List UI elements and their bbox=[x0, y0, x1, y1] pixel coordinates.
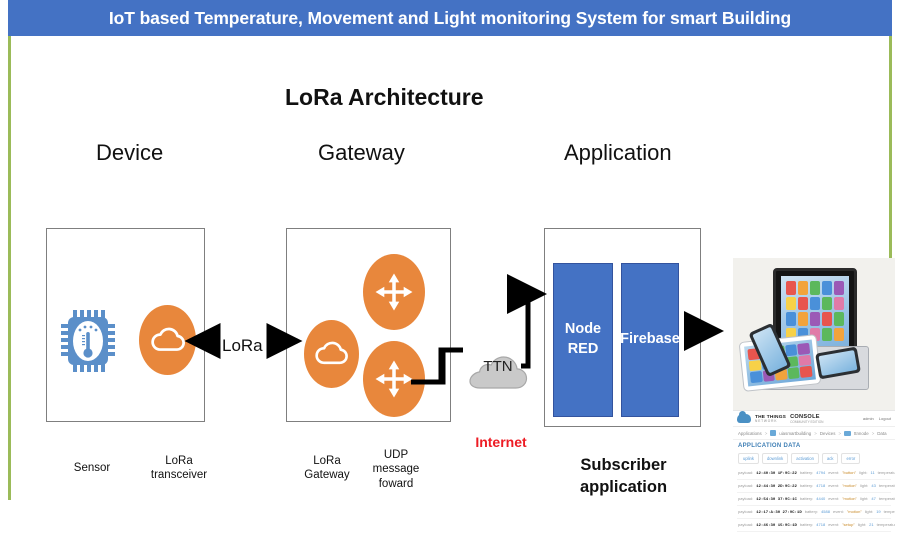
row-light-value: 19 bbox=[876, 509, 880, 514]
row-event-key: event: bbox=[828, 470, 839, 475]
row-event-value: "motion" bbox=[842, 496, 857, 501]
console-user-link[interactable]: admin bbox=[863, 416, 874, 421]
lora-gateway-label-line1: LoRa bbox=[291, 454, 363, 468]
row-payload-value: 12:44:30 2D:9C:22 bbox=[756, 485, 797, 489]
ttn-label: TTN bbox=[466, 358, 530, 375]
row-temp-key: temperature: bbox=[879, 483, 895, 488]
breadcrumb-devices[interactable]: Devices bbox=[820, 431, 836, 436]
row-battery-value: 4718 bbox=[816, 522, 825, 527]
tab-activation[interactable]: activation bbox=[791, 453, 819, 464]
breadcrumb-app-name[interactable]: uiasmartbuilding bbox=[779, 431, 811, 436]
row-light-key: light: bbox=[860, 496, 868, 501]
title-banner: IoT based Temperature, Movement and Ligh… bbox=[8, 0, 892, 36]
banner-title: IoT based Temperature, Movement and Ligh… bbox=[109, 8, 791, 29]
udp-forward-label-line1: UDP bbox=[363, 448, 429, 462]
temperature-sensor-chip-icon bbox=[57, 302, 119, 380]
node-red-box: Node RED bbox=[553, 263, 613, 417]
row-payload-value: 12:40:30 1F:9C:22 bbox=[756, 472, 797, 476]
row-battery-key: battery: bbox=[805, 509, 818, 514]
row-battery-value: 4718 bbox=[816, 483, 825, 488]
subscriber-caption-line1: Subscriber bbox=[541, 454, 706, 476]
udp-forward-label: UDP message foward bbox=[363, 448, 429, 491]
four-way-arrow-router-icon-2 bbox=[363, 341, 425, 417]
device-icon bbox=[844, 431, 851, 436]
row-payload-value: 12:54:30 37:9C:1C bbox=[756, 498, 797, 502]
gateway-heading: Gateway bbox=[318, 140, 405, 166]
ttn-logo-icon bbox=[737, 414, 751, 423]
console-filter-tabs: uplink downlink activation ack error bbox=[733, 453, 895, 467]
row-payload-key: payload: bbox=[738, 496, 753, 501]
ttn-brand: THE THINGS N E T W O R K bbox=[755, 414, 786, 424]
table-row[interactable]: payload: 12:46:30 15:9C:1D battery: 4718… bbox=[737, 519, 891, 532]
row-payload-value: 12:17:A:30 27:9C:1D bbox=[756, 511, 802, 515]
tab-uplink[interactable]: uplink bbox=[738, 453, 759, 464]
breadcrumb: Applications > uiasmartbuilding > Device… bbox=[733, 427, 895, 440]
lora-transceiver-cloud-icon bbox=[139, 305, 196, 375]
lora-gateway-label: LoRa Gateway bbox=[291, 454, 363, 483]
row-light-key: light: bbox=[865, 509, 873, 514]
row-battery-value: 4794 bbox=[816, 470, 825, 475]
console-logout-link[interactable]: Logout bbox=[879, 416, 891, 421]
console-header-right: admin Logout bbox=[863, 416, 891, 421]
row-payload-value: 12:46:30 15:9C:1D bbox=[756, 524, 797, 528]
row-battery-key: battery: bbox=[800, 470, 813, 475]
application-data-title: APPLICATION DATA bbox=[733, 440, 895, 453]
lora-gateway-cloud-icon bbox=[304, 320, 359, 388]
devices-photo bbox=[733, 258, 895, 410]
row-light-value: 21 bbox=[869, 522, 873, 527]
application-icon bbox=[770, 430, 776, 436]
device-heading: Device bbox=[96, 140, 163, 166]
breadcrumb-data[interactable]: Data bbox=[877, 431, 886, 436]
row-event-value: "button" bbox=[842, 470, 856, 475]
four-way-arrow-router-icon bbox=[363, 254, 425, 330]
row-battery-key: battery: bbox=[800, 522, 813, 527]
breadcrumb-applications[interactable]: Applications bbox=[738, 431, 762, 436]
internet-label: Internet bbox=[461, 434, 541, 450]
slide-body: LoRa Architecture Device Gateway Applica… bbox=[8, 36, 892, 500]
row-event-value: "motion" bbox=[847, 509, 862, 514]
slide-page: IoT based Temperature, Movement and Ligh… bbox=[0, 0, 900, 500]
subscriber-caption-line2: application bbox=[541, 476, 706, 498]
lora-transceiver-label: LoRa transceiver bbox=[141, 454, 217, 483]
row-temp-key: temperature: bbox=[879, 496, 895, 501]
console-word-sub: COMMUNITY EDITION bbox=[790, 420, 823, 424]
tab-downlink[interactable]: downlink bbox=[762, 453, 788, 464]
row-light-value: 43 bbox=[871, 483, 875, 488]
row-event-key: event: bbox=[828, 483, 839, 488]
row-payload-key: payload: bbox=[738, 509, 753, 514]
udp-forward-label-line3: foward bbox=[363, 477, 429, 491]
lora-gateway-label-line2: Gateway bbox=[291, 468, 363, 482]
row-payload-key: payload: bbox=[738, 470, 753, 475]
row-battery-value: 4440 bbox=[816, 496, 825, 501]
ttn-console-screenshot: THE THINGS N E T W O R K CONSOLE COMMUNI… bbox=[733, 410, 895, 536]
sensor-label: Sensor bbox=[61, 461, 123, 475]
breadcrumb-separator-2: > bbox=[814, 431, 817, 436]
lora-transceiver-label-line1: LoRa bbox=[141, 454, 217, 468]
console-header: THE THINGS N E T W O R K CONSOLE COMMUNI… bbox=[733, 411, 895, 427]
row-battery-key: battery: bbox=[800, 483, 813, 488]
architecture-title: LoRa Architecture bbox=[285, 84, 484, 111]
row-temp-key: temperature: bbox=[877, 522, 895, 527]
row-light-key: light: bbox=[858, 522, 866, 527]
tab-error[interactable]: error bbox=[841, 453, 860, 464]
console-word: CONSOLE bbox=[790, 414, 820, 420]
table-row[interactable]: payload: 12:40:30 1F:9C:22 battery: 4794… bbox=[737, 467, 891, 480]
table-row[interactable]: payload: 12:44:30 2D:9C:22 battery: 4718… bbox=[737, 480, 891, 493]
application-heading: Application bbox=[564, 140, 672, 166]
row-light-key: light: bbox=[860, 483, 868, 488]
row-light-value: 11 bbox=[871, 470, 875, 475]
row-payload-key: payload: bbox=[738, 483, 753, 488]
breadcrumb-device-name[interactable]: ttnnode bbox=[854, 431, 869, 436]
table-row[interactable]: payload: 12:17:A:30 27:9C:1D battery: 45… bbox=[737, 506, 891, 519]
lora-transceiver-label-line2: transceiver bbox=[141, 468, 217, 482]
lora-link-label: LoRa bbox=[222, 336, 263, 356]
ttn-brand-sub: N E T W O R K bbox=[755, 420, 786, 424]
row-temp-key: temperature: bbox=[884, 509, 895, 514]
end-user-screenshot-panel: THE THINGS N E T W O R K CONSOLE COMMUNI… bbox=[733, 258, 895, 536]
tab-ack[interactable]: ack bbox=[822, 453, 839, 464]
breadcrumb-separator-3: > bbox=[838, 431, 841, 436]
row-payload-key: payload: bbox=[738, 522, 753, 527]
row-event-key: event: bbox=[828, 522, 839, 527]
firebase-box: Firebase bbox=[621, 263, 679, 417]
breadcrumb-separator-4: > bbox=[872, 431, 875, 436]
subscriber-application-caption: Subscriber application bbox=[541, 454, 706, 499]
row-battery-key: battery: bbox=[800, 496, 813, 501]
row-event-key: event: bbox=[833, 509, 844, 514]
row-light-value: 47 bbox=[871, 496, 875, 501]
row-temp-key: temperature: bbox=[878, 470, 895, 475]
row-event-value: "setup" bbox=[842, 522, 855, 527]
row-battery-value: 4588 bbox=[821, 509, 830, 514]
console-word-group: CONSOLE COMMUNITY EDITION bbox=[790, 414, 823, 424]
udp-forward-label-line2: message bbox=[363, 462, 429, 476]
row-event-value: "motion" bbox=[842, 483, 857, 488]
breadcrumb-separator: > bbox=[765, 431, 768, 436]
row-event-key: event: bbox=[828, 496, 839, 501]
row-light-key: light: bbox=[859, 470, 867, 475]
